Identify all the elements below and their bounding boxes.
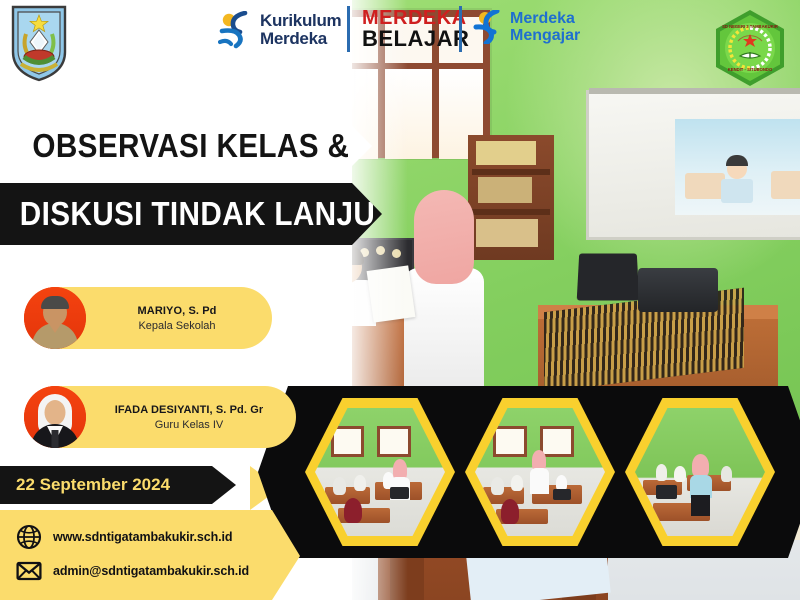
situbondo-regency-emblem (10, 4, 68, 82)
merdeka-belajar-logo: MERDEKA BELAJAR (362, 8, 469, 50)
photo-paper-sheet (367, 265, 416, 322)
website-url: www.sdntigatambakukir.sch.id (53, 530, 232, 544)
envelope-icon (16, 558, 42, 584)
page-title-line-2: DISKUSI TINDAK LANJUT (0, 195, 394, 233)
person-role: Kepala Sekolah (92, 320, 262, 332)
sdn-3-tambakukir-school-logo: SD NEGERI 3 TAMBAKUKIR KENDIT - SITUBOND… (710, 8, 790, 88)
logo-divider-2 (459, 6, 462, 52)
logo-header-bar: Kurikulum Merdeka MERDEKA BELAJAR Merdek… (0, 0, 800, 62)
email-address: admin@sdntigatambakukir.sch.id (53, 564, 249, 578)
merdeka-belajar-line2: BELAJAR (362, 28, 469, 50)
school-logo-text-top: SD NEGERI 3 TAMBAKUKIR (722, 24, 778, 29)
globe-icon (16, 524, 42, 550)
merdeka-mengajar-logo: Merdeka Mengajar (473, 10, 580, 44)
merdeka-mengajar-line1: Merdeka (510, 10, 580, 27)
event-date-band: 22 September 2024 (0, 466, 236, 504)
kurikulum-merdeka-line1: Kurikulum (260, 12, 341, 30)
photo-projection (675, 119, 800, 215)
merdeka-belajar-line1: MERDEKA (362, 8, 469, 28)
photo-whiteboard (586, 90, 800, 240)
merdeka-mengajar-line2: Mengajar (510, 27, 580, 44)
kurikulum-merdeka-mark (218, 11, 252, 49)
person-role: Guru Kelas IV (92, 419, 286, 431)
contact-row-website[interactable]: www.sdntigatambakukir.sch.id (16, 520, 300, 554)
avatar (24, 386, 86, 448)
event-date: 22 September 2024 (0, 475, 170, 495)
contact-band: www.sdntigatambakukir.sch.id admin@sdnti… (0, 510, 300, 600)
avatar (24, 287, 86, 349)
title-line-2-band: DISKUSI TINDAK LANJUT (0, 183, 382, 245)
photo-bookshelf (468, 135, 554, 260)
photo-teacher (404, 268, 484, 386)
title-line-1-band: OBSERVASI KELAS & (0, 118, 372, 174)
contact-row-email[interactable]: admin@sdntigatambakukir.sch.id (16, 554, 300, 588)
photo-laptop (577, 253, 640, 300)
page-title-line-1: OBSERVASI KELAS & (0, 127, 349, 165)
photo-printer (638, 268, 718, 312)
poster-canvas: Kurikulum Merdeka MERDEKA BELAJAR Merdek… (0, 0, 800, 600)
logo-divider-1 (347, 6, 350, 52)
kurikulum-merdeka-logo: Kurikulum Merdeka (218, 8, 341, 52)
school-logo-text-bottom: KENDIT - SITUBONDO (728, 67, 773, 72)
kurikulum-merdeka-line2: Merdeka (260, 30, 341, 48)
person-name: MARIYO, S. Pd (92, 305, 262, 317)
person-card-kepala-sekolah: MARIYO, S. Pd Kepala Sekolah (24, 287, 272, 349)
person-name: IFADA DESIYANTI, S. Pd. Gr (92, 404, 286, 416)
merdeka-mengajar-mark (473, 10, 503, 44)
person-card-guru-kelas: IFADA DESIYANTI, S. Pd. Gr Guru Kelas IV (24, 386, 296, 448)
